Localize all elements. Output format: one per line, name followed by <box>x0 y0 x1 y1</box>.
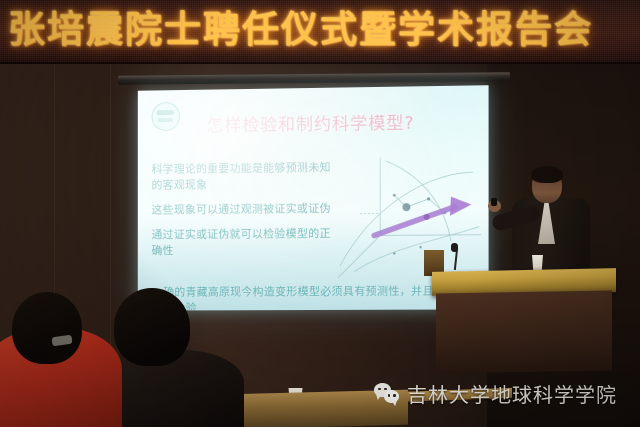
microphone-icon <box>451 243 458 252</box>
slide-bullet: 通过证实或证伪就可以检验模型的正确性 <box>152 226 340 259</box>
university-seal-icon <box>152 102 181 131</box>
speaker-hair <box>531 166 563 183</box>
slide-bullet: 科学理论的重要功能是能够预测未知的客观现象 <box>152 160 340 194</box>
podium-body <box>436 290 612 373</box>
watermark: 吉林大学地球科学学院 <box>374 379 617 408</box>
speaker-figure <box>490 168 600 278</box>
slide-diagram-3d-vector <box>332 142 486 290</box>
lecture-photo-scene: 张培震院士聘任仪式暨学术报告会 怎样检验和制约科学模型? 科学理论的重要功能是能… <box>0 0 640 427</box>
audience-head <box>12 292 82 364</box>
led-banner: 张培震院士聘任仪式暨学术报告会 <box>0 0 640 64</box>
wechat-icon <box>374 383 400 404</box>
wechat-bubble-small <box>384 390 399 403</box>
wechat-dot <box>378 388 381 391</box>
audience-member-red-hoodie <box>0 292 140 427</box>
slide-title: 怎样检验和制约科学模型? <box>207 109 415 137</box>
wechat-dot <box>393 394 396 397</box>
wechat-dot <box>384 388 387 391</box>
wechat-dot <box>388 394 391 397</box>
banner-title-text: 张培震院士聘任仪式暨学术报告会 <box>8 8 608 52</box>
slide-bullet: 这些现象可以通过观测被证实或证伪 <box>152 201 340 219</box>
slide-body: 科学理论的重要功能是能够预测未知的客观现象 这些现象可以通过观测被证实或证伪 通… <box>152 160 340 268</box>
watermark-text: 吉林大学地球科学学院 <box>407 379 617 408</box>
presenter-remote-icon <box>491 198 497 206</box>
